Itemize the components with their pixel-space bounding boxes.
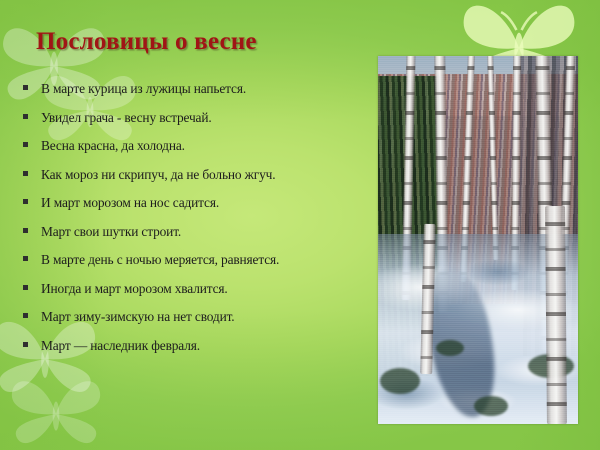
list-item: И март морозом на нос садится.: [18, 190, 368, 217]
bullet-square-icon: [23, 114, 28, 119]
bullet-square-icon: [23, 285, 28, 290]
proverb-text: Март — наследник февраля.: [41, 333, 368, 359]
proverb-text: Увидел грача - весну встречай.: [41, 105, 368, 131]
proverb-text: Март свои шутки строит.: [41, 219, 368, 245]
bullet-square-icon: [23, 342, 28, 347]
proverb-text: Март зиму-зимскую на нет сводит.: [41, 304, 368, 330]
bullet-square-icon: [23, 256, 28, 261]
proverb-text: Иногда и март морозом хвалится.: [41, 276, 368, 302]
bullet-square-icon: [23, 171, 28, 176]
bullet-square-icon: [23, 199, 28, 204]
bullet-square-icon: [23, 228, 28, 233]
presentation-slide: Пословицы о весне В марте курица из лужи…: [0, 0, 600, 450]
bullet-square-icon: [23, 142, 28, 147]
winter-forest-image: [378, 56, 578, 424]
list-item: В марте курица из лужицы напьется.: [18, 76, 368, 103]
bullet-square-icon: [23, 313, 28, 318]
proverb-text: Весна красна, да холодна.: [41, 133, 368, 159]
proverb-text: И март морозом на нос садится.: [41, 190, 368, 216]
proverb-text: Как мороз ни скрипуч, да не больно жгуч.: [41, 162, 368, 188]
list-item: Иногда и март морозом хвалится.: [18, 276, 368, 303]
slide-title: Пословицы о весне: [36, 27, 336, 57]
list-item: Весна красна, да холодна.: [18, 133, 368, 160]
list-item: Март — наследник февраля.: [18, 333, 368, 360]
list-item: Увидел грача - весну встречай.: [18, 105, 368, 132]
list-item: В марте день с ночью меряется, равняется…: [18, 247, 368, 274]
list-item: Март свои шутки строит.: [18, 219, 368, 246]
bullet-square-icon: [23, 85, 28, 90]
list-item: Март зиму-зимскую на нет сводит.: [18, 304, 368, 331]
proverb-list: В марте курица из лужицы напьется. Увиде…: [18, 76, 368, 361]
image-content: [378, 56, 578, 424]
list-item: Как мороз ни скрипуч, да не больно жгуч.: [18, 162, 368, 189]
proverb-text: В марте курица из лужицы напьется.: [41, 76, 368, 102]
proverb-text: В марте день с ночью меряется, равняется…: [41, 247, 368, 273]
image-grain-overlay: [378, 56, 578, 424]
